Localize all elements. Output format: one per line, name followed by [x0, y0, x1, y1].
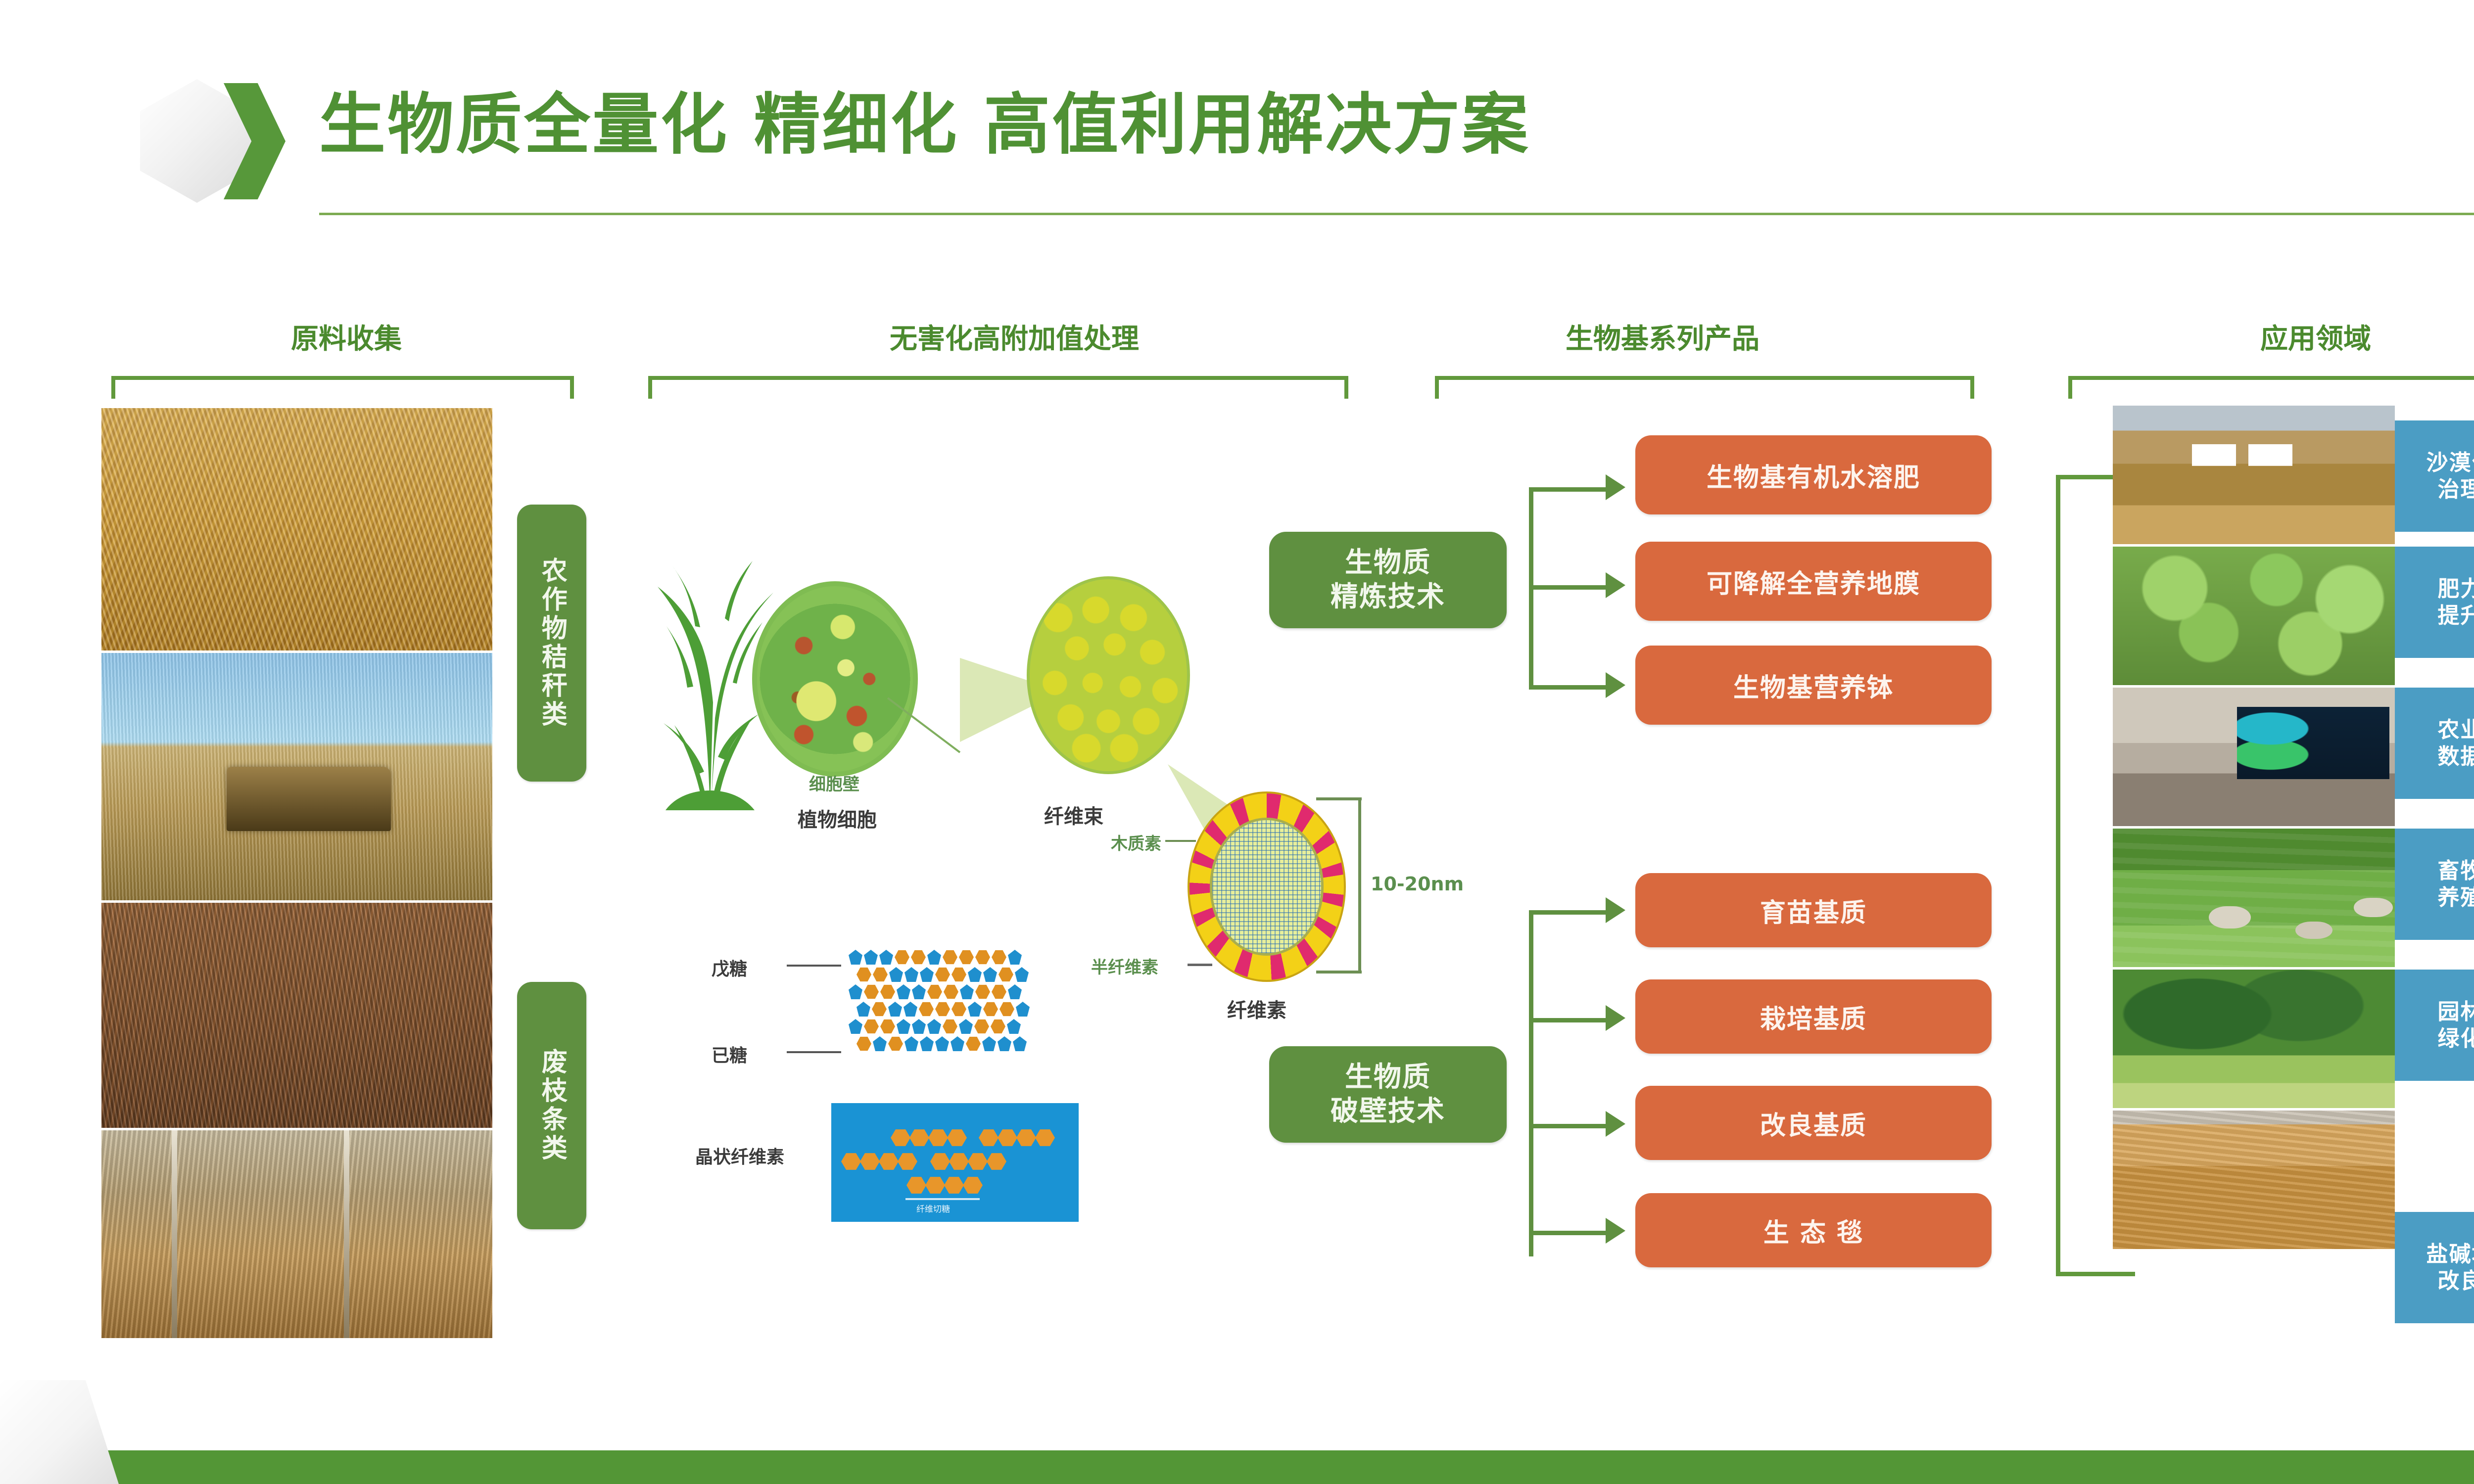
pentose-unit-icon [1015, 967, 1029, 982]
pentose-unit-icon [889, 967, 903, 982]
fiber-bundle-illustration [1027, 576, 1190, 774]
hexose-unit-icon [919, 1002, 934, 1017]
hexose-unit-icon [992, 950, 1006, 965]
grazing-sheep-photo [2113, 829, 2395, 967]
hexose-unit-icon [966, 1036, 981, 1051]
pentose-unit-icon [856, 1002, 870, 1017]
product-box-biodegradable-mulch-film[interactable]: 可降解全营养地膜 [1635, 542, 1992, 621]
tech-box-biomass-refining[interactable]: 生物质 精炼技术 [1269, 532, 1507, 628]
application-label-saline: 盐碱地 改良 [2395, 1212, 2474, 1323]
hexose-unit-icon [943, 1019, 957, 1034]
connector-refining-branch-3 [1529, 685, 1608, 690]
connector-refining-branch-1 [1529, 487, 1608, 492]
landscape-greening-photo [2113, 970, 2395, 1108]
pentose-unit-icon [951, 1036, 964, 1051]
bracket-products [1435, 376, 1974, 399]
pentose-unit-icon [920, 1036, 934, 1051]
crystalline-cellulose-illustration: 纤维切糖 [831, 1103, 1079, 1222]
product-box-nutrient-pot[interactable]: 生物基营养钵 [1635, 646, 1992, 725]
hexose-unit-icon [999, 1002, 1014, 1017]
sugar-chain-row [849, 984, 1022, 999]
hexose-unit-icon [935, 1002, 950, 1017]
hexose-unit-icon [880, 984, 895, 999]
tech-refining-line2: 精炼技术 [1331, 581, 1445, 613]
hexose-unit-icon [888, 1036, 903, 1051]
sugar-chain-row [856, 1036, 1027, 1051]
connector-wallbreak-branch-1 [1529, 910, 1608, 915]
footer-bar [0, 1450, 2474, 1484]
arrow-wallbreak-4-icon [1606, 1218, 1625, 1244]
application-label-desertification: 沙漠化 治理 [2395, 420, 2474, 532]
footer-wedge-decoration [0, 1380, 119, 1484]
label-hexose: 已糖 [712, 1041, 747, 1067]
arrow-wallbreak-3-icon [1606, 1111, 1625, 1137]
pentose-unit-icon [864, 950, 878, 965]
app-livestock-line2: 养殖 [2438, 885, 2474, 910]
pentose-unit-icon [983, 967, 997, 982]
pentose-unit-icon [1007, 1019, 1021, 1034]
pentose-unit-icon [912, 1019, 926, 1034]
hexose-unit-icon [864, 984, 879, 999]
dimension-tick-bottom [1316, 971, 1362, 974]
pentose-unit-icon [904, 1002, 917, 1017]
bracket-processing [648, 376, 1348, 399]
app-desert-line2: 治理 [2438, 477, 2474, 502]
cabbage-field-photo [2113, 547, 2395, 685]
application-label-greening: 园林 绿化 [2395, 970, 2474, 1081]
arrow-refining-2-icon [1606, 572, 1625, 598]
crystal-box-caption: 纤维切糖 [916, 1202, 950, 1214]
hexose-unit-icon [895, 950, 909, 965]
hexose-unit-icon [983, 1002, 998, 1017]
connector-wallbreak-spine [1529, 910, 1533, 1256]
desert-control-photo [2113, 406, 2395, 544]
arrow-wallbreak-2-icon [1606, 1005, 1625, 1031]
arrow-wallbreak-1-icon [1606, 897, 1625, 923]
hexose-unit-icon [952, 967, 966, 982]
title-divider [319, 213, 2474, 215]
pentose-unit-icon [968, 1002, 982, 1017]
app-saline-line2: 改良 [2438, 1268, 2474, 1294]
app-fertility-line1: 肥力 [2438, 576, 2474, 602]
label-fiber-bundle: 纤维束 [1044, 800, 1103, 829]
hexose-unit-icon [880, 1019, 895, 1034]
tech-wallbreak-line1: 生物质 [1345, 1061, 1431, 1093]
pentose-unit-icon [849, 984, 862, 999]
application-label-livestock: 畜牧 养殖 [2395, 829, 2474, 940]
label-fiber-dimension: 10-20nm [1371, 873, 1464, 895]
label-plant-cell: 植物细胞 [798, 804, 877, 833]
pentose-unit-icon [1016, 1002, 1030, 1017]
hexose-unit-icon [959, 950, 974, 965]
application-label-agri-data: 农业 数据 [2395, 688, 2474, 799]
app-greening-line2: 绿化 [2438, 1026, 2474, 1051]
hexose-unit-icon [864, 1019, 879, 1034]
pentose-unit-icon [982, 1036, 996, 1051]
column-header-processing: 无害化高附加值处理 [722, 317, 1306, 357]
pruned-twigs-photo [101, 903, 492, 1128]
arrow-refining-3-icon [1606, 672, 1625, 698]
lignin-leader-line [1165, 840, 1196, 842]
hexose-unit-icon [975, 950, 990, 965]
app-fertility-line2: 提升 [2438, 603, 2474, 628]
page-title: 生物质全量化 精细化 高值利用解决方案 [319, 87, 1530, 163]
tech-box-wall-breaking[interactable]: 生物质 破壁技术 [1269, 1046, 1507, 1143]
sugar-chain-row [849, 1019, 1021, 1034]
label-cellulose: 纤维素 [1227, 994, 1286, 1023]
pentose-unit-icon [873, 1036, 887, 1051]
dimension-tick-top [1316, 797, 1362, 800]
connector-wallbreak-branch-4 [1529, 1231, 1608, 1235]
pentose-unit-icon [1008, 984, 1022, 999]
raw-material-category-straw: 农作物秸秆类 [517, 505, 586, 782]
hexose-unit-icon [911, 950, 926, 965]
pentose-unit-icon [927, 950, 941, 965]
hexose-leader-line [787, 1051, 841, 1053]
bracket-raw-material [111, 376, 574, 399]
label-crystalline-cellulose: 晶状纤维素 [695, 1143, 784, 1168]
hexose-unit-icon [872, 1002, 887, 1017]
arrow-refining-1-icon [1606, 474, 1625, 500]
corn-stalks-photo [101, 408, 492, 650]
connector-refining-branch-2 [1529, 585, 1608, 590]
pentose-unit-icon [897, 1019, 910, 1034]
agri-data-room-photo [2113, 688, 2395, 826]
label-lignin: 木质素 [1111, 830, 1161, 854]
product-box-cultivation-substrate[interactable]: 栽培基质 [1635, 979, 1992, 1054]
hexose-unit-icon [999, 967, 1013, 982]
hexose-unit-icon [974, 1019, 989, 1034]
app-data-line1: 农业 [2438, 717, 2474, 742]
pentose-unit-icon [912, 984, 926, 999]
product-box-water-soluble-fertilizer[interactable]: 生物基有机水溶肥 [1635, 435, 1992, 514]
hexose-unit-icon [952, 1002, 966, 1017]
saline-land-photo [2113, 1111, 2395, 1249]
fiber-cross-section-illustration [1188, 791, 1346, 982]
column-header-raw-material: 原料收集 [208, 317, 485, 357]
pentose-unit-icon [1008, 950, 1022, 965]
product-box-improvement-substrate[interactable]: 改良基质 [1635, 1086, 1992, 1160]
pentose-leader-line [787, 965, 841, 967]
hexose-unit-icon [943, 950, 957, 965]
pentose-unit-icon [904, 1036, 918, 1051]
pentose-unit-icon [849, 1019, 862, 1034]
hexose-unit-icon [935, 967, 950, 982]
sugar-chain-row [856, 1002, 1030, 1017]
connector-wallbreak-branch-3 [1529, 1124, 1608, 1128]
slide-canvas: 生物质全量化 精细化 高值利用解决方案 原料收集 无害化高附加值处理 生物基系列… [0, 0, 2474, 1484]
hexose-unit-icon [992, 984, 1006, 999]
product-box-ecological-blanket[interactable]: 生 态 毯 [1635, 1193, 1992, 1267]
pentose-unit-icon [960, 984, 974, 999]
hexose-unit-icon [856, 1036, 871, 1051]
pentose-unit-icon [959, 1019, 973, 1034]
bracket-applications [2068, 376, 2474, 399]
hay-bale-photo [101, 653, 492, 900]
hexose-unit-icon [975, 984, 990, 999]
label-cell-wall: 细胞壁 [809, 771, 859, 795]
cellulose-core [1210, 818, 1324, 956]
hexose-unit-icon [991, 1019, 1005, 1034]
hexose-unit-icon [873, 967, 888, 982]
pentose-unit-icon [927, 1019, 941, 1034]
pentose-unit-icon [849, 950, 862, 965]
pentose-unit-icon [968, 967, 982, 982]
product-box-seedling-substrate[interactable]: 育苗基质 [1635, 873, 1992, 947]
hexose-unit-icon [927, 984, 942, 999]
pentose-unit-icon [888, 1002, 902, 1017]
sugar-chain-row [856, 967, 1029, 982]
tech-wallbreak-line2: 破壁技术 [1331, 1095, 1445, 1127]
vineyard-prunings-photo [101, 1130, 492, 1338]
pentose-unit-icon [1013, 1036, 1027, 1051]
sugar-chain-row [849, 950, 1022, 965]
hexose-unit-icon [944, 984, 958, 999]
app-greening-line1: 园林 [2438, 999, 2474, 1024]
pentose-unit-icon [879, 950, 893, 965]
column-header-applications: 应用领域 [2162, 317, 2469, 357]
column-header-products: 生物基系列产品 [1450, 317, 1875, 357]
hemicellulose-leader-line [1188, 964, 1212, 966]
label-hemicellulose: 半纤维素 [1091, 954, 1158, 978]
connector-wallbreak-branch-2 [1529, 1018, 1608, 1022]
app-livestock-line1: 畜牧 [2438, 858, 2474, 883]
pentose-unit-icon [897, 984, 910, 999]
pentose-unit-icon [920, 967, 934, 982]
app-saline-line1: 盐碱地 [2426, 1242, 2474, 1267]
app-data-line2: 数据 [2438, 744, 2474, 769]
hexose-unit-icon [856, 967, 871, 982]
label-pentose: 戊糖 [712, 955, 747, 980]
pentose-unit-icon [935, 1036, 949, 1051]
pentose-unit-icon [904, 967, 918, 982]
dimension-line-vertical [1358, 797, 1361, 973]
application-label-fertility: 肥力 提升 [2395, 547, 2474, 658]
pentose-unit-icon [998, 1036, 1011, 1051]
raw-material-category-twigs: 废枝条类 [517, 982, 586, 1229]
app-desert-line1: 沙漠化 [2426, 450, 2474, 475]
tech-refining-line1: 生物质 [1345, 547, 1431, 579]
